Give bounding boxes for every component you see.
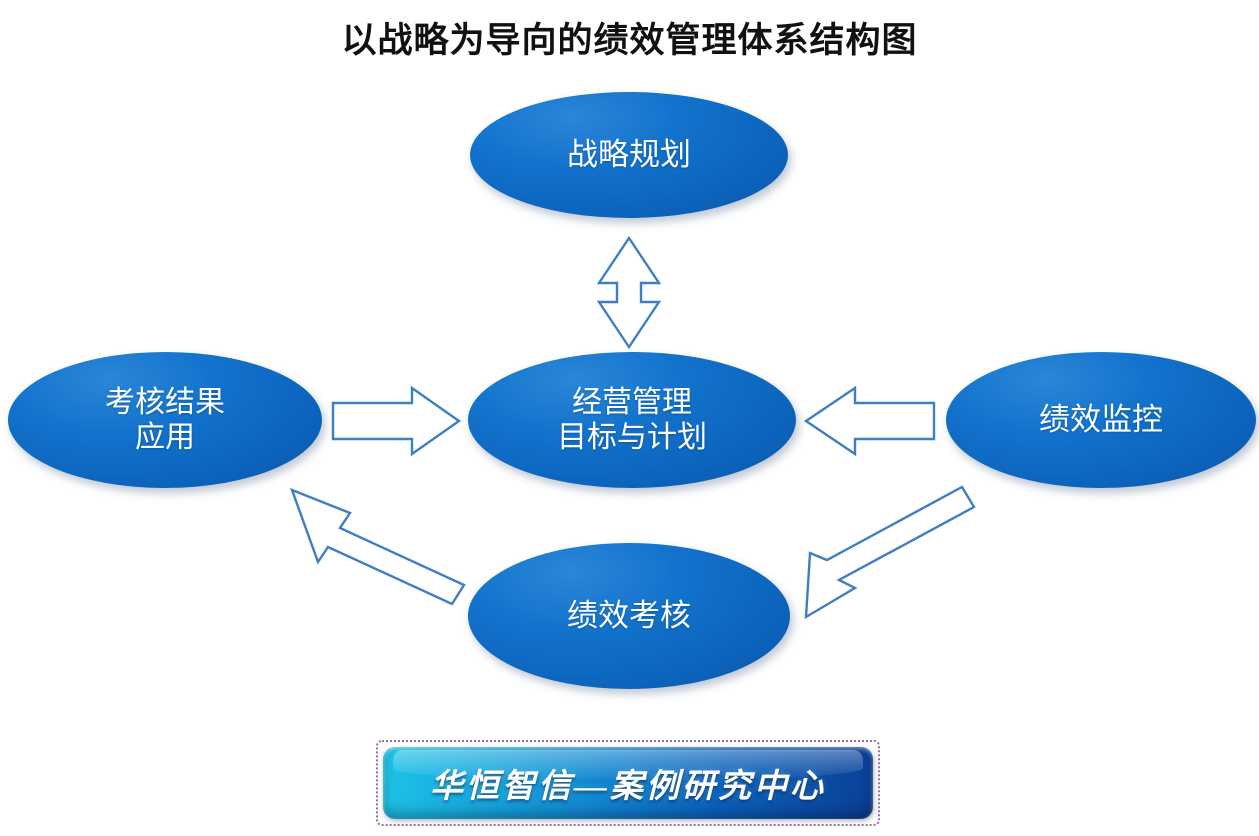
node-performance-monitoring[interactable]: 绩效监控 — [946, 352, 1256, 488]
diagram-canvas: 以战略为导向的绩效管理体系结构图 战略规划 经营管理 目标与计划 考核结果 应用 — [0, 0, 1259, 836]
connector-right-core — [806, 388, 934, 454]
node-appraisal-result-application-label: 考核结果 应用 — [105, 385, 225, 456]
footer-banner-label: 华恒智信—案例研究中心 — [430, 759, 826, 807]
node-performance-monitoring-label: 绩效监控 — [1039, 402, 1163, 439]
connector-left-core — [333, 388, 459, 454]
node-strategy-planning-label: 战略规划 — [567, 137, 691, 174]
node-performance-appraisal[interactable]: 绩效考核 — [468, 543, 790, 689]
footer-banner-frame: 华恒智信—案例研究中心 — [376, 740, 880, 826]
node-business-management-goals-label: 经营管理 目标与计划 — [557, 385, 707, 456]
node-strategy-planning[interactable]: 战略规划 — [470, 92, 788, 218]
page-title: 以战略为导向的绩效管理体系结构图 — [0, 12, 1259, 63]
node-business-management-goals[interactable]: 经营管理 目标与计划 — [468, 352, 796, 488]
node-appraisal-result-application[interactable]: 考核结果 应用 — [8, 352, 322, 488]
connector-strategy-core — [599, 238, 659, 347]
connector-bottom-left — [292, 490, 464, 604]
node-performance-appraisal-label: 绩效考核 — [567, 598, 691, 635]
footer-banner: 华恒智信—案例研究中心 — [383, 747, 873, 819]
connector-right-bottom — [806, 487, 974, 617]
